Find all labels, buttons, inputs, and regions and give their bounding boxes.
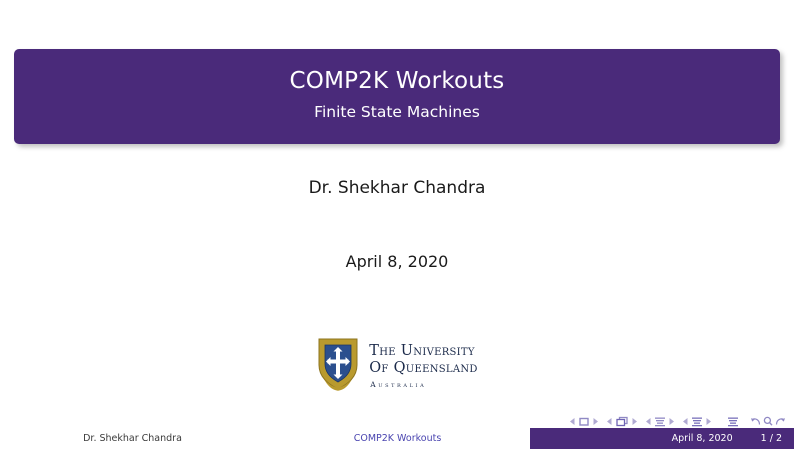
presentation-icon[interactable] [726, 415, 740, 428]
page-subtitle: Finite State Machines [314, 102, 480, 122]
uq-shield-crest-icon [316, 337, 360, 395]
next-subsection-icon[interactable] [667, 415, 676, 428]
frame-icon[interactable] [614, 415, 630, 428]
title-block: COMP2K Workouts Finite State Machines [14, 49, 780, 144]
university-logo: The University Of Queensland Australia [0, 337, 794, 395]
previous-section-icon[interactable] [681, 415, 690, 428]
footer-page-number: 1 / 2 [761, 433, 782, 444]
footer-right-block: April 8, 2020 1 / 2 [530, 428, 794, 449]
next-slide-icon[interactable] [591, 415, 600, 428]
author-name: Dr. Shekhar Chandra [0, 178, 794, 198]
forward-icon[interactable] [774, 415, 786, 428]
slide-icon[interactable] [577, 415, 591, 428]
section-icon[interactable] [690, 415, 704, 428]
subsection-icon[interactable] [653, 415, 667, 428]
next-frame-icon[interactable] [630, 415, 639, 428]
logo-line-australia: Australia [370, 380, 477, 389]
next-section-icon[interactable] [704, 415, 713, 428]
back-icon[interactable] [750, 415, 762, 428]
footer-date: April 8, 2020 [672, 433, 733, 444]
logo-line-queensland: Of Queensland [369, 360, 477, 377]
footer-author: Dr. Shekhar Chandra [0, 428, 265, 449]
page-title: COMP2K Workouts [290, 67, 505, 96]
previous-subsection-icon[interactable] [644, 415, 653, 428]
previous-frame-icon[interactable] [605, 415, 614, 428]
footer-title[interactable]: COMP2K Workouts [265, 428, 530, 449]
footer-bar: Dr. Shekhar Chandra COMP2K Workouts Apri… [0, 428, 794, 449]
find-icon[interactable] [762, 415, 774, 428]
beamer-navigation-bar[interactable] [568, 414, 786, 429]
university-logo-text: The University Of Queensland Australia [369, 343, 477, 389]
logo-line-university: The University [369, 343, 477, 360]
presentation-date: April 8, 2020 [0, 252, 794, 271]
previous-slide-icon[interactable] [568, 415, 577, 428]
